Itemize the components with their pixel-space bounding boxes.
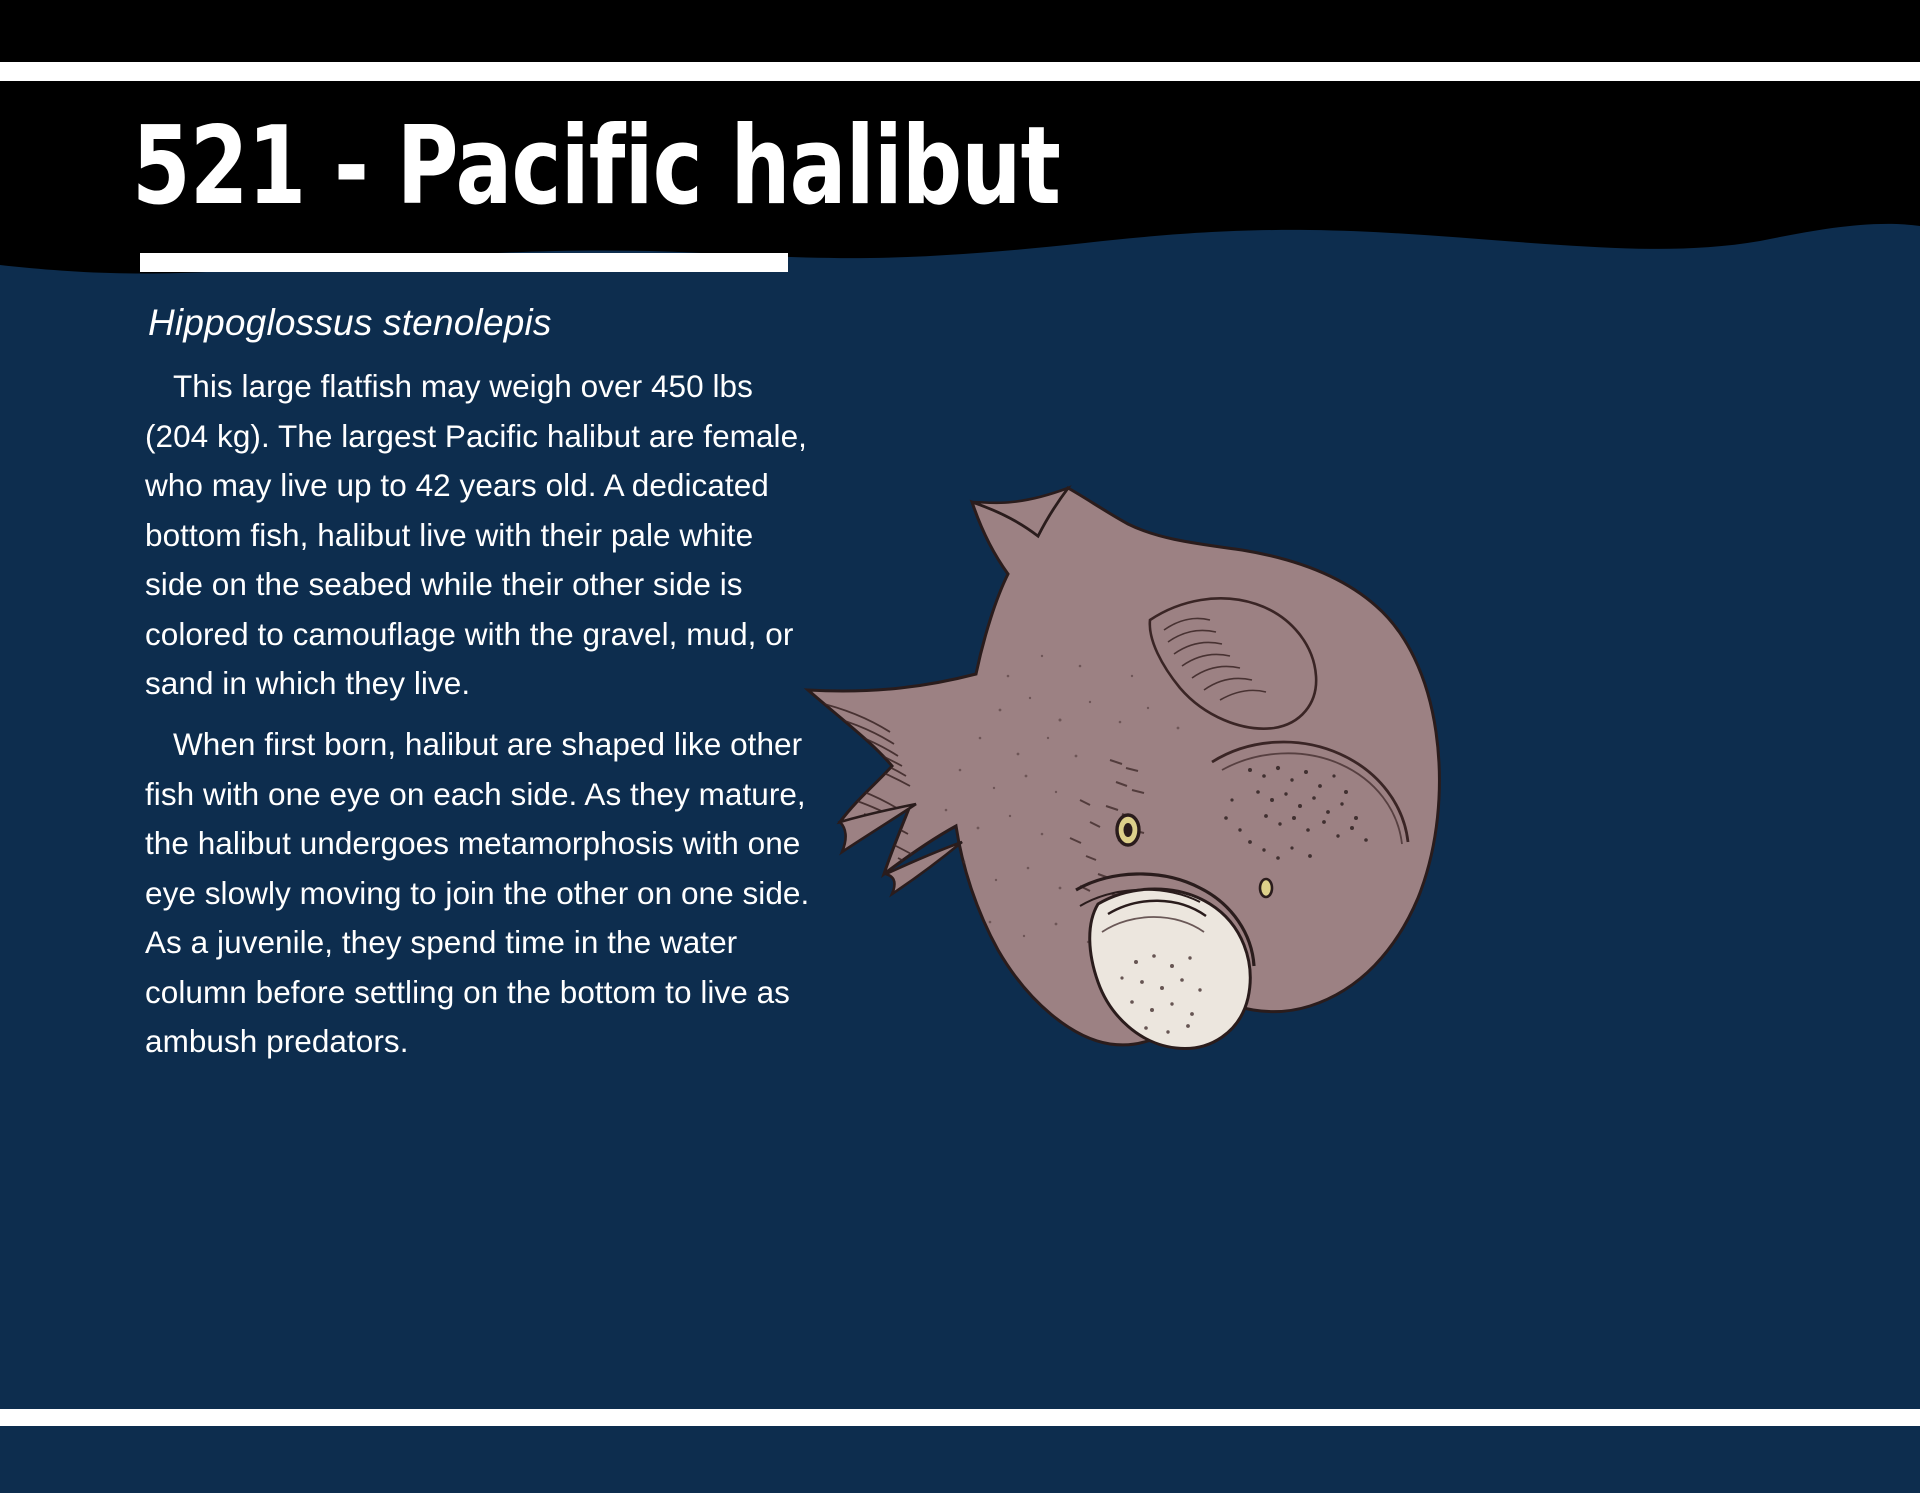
- slide-canvas: 521 - Pacific halibut Hippoglossus steno…: [0, 0, 1920, 1493]
- bottom-navy-band: [0, 1426, 1920, 1493]
- top-black-band: [0, 0, 1920, 62]
- body-paragraph-2: When first born, halibut are shaped like…: [145, 720, 815, 1067]
- top-white-band: [0, 62, 1920, 81]
- content-area: Hippoglossus stenolepis This large flatf…: [0, 290, 1920, 1410]
- bottom-white-band: [0, 1409, 1920, 1426]
- scientific-name: Hippoglossus stenolepis: [148, 301, 552, 345]
- page-title: 521 - Pacific halibut: [132, 112, 1060, 222]
- body-paragraph-1: This large flatfish may weigh over 450 l…: [145, 362, 815, 709]
- title-underline-bar: [140, 253, 788, 272]
